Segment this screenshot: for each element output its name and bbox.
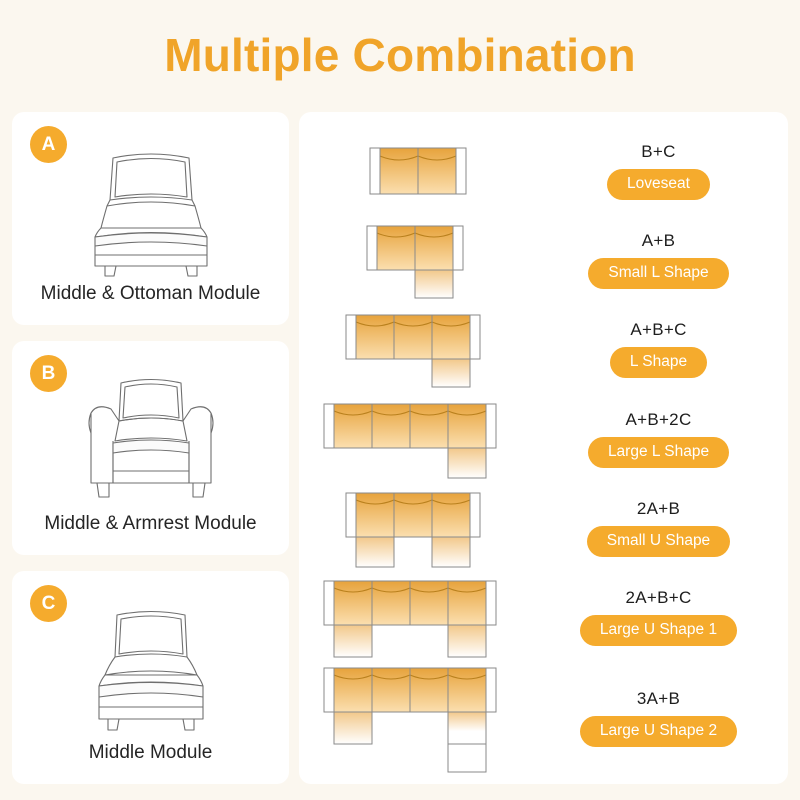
combination-name-pill[interactable]: Small U Shape bbox=[587, 526, 730, 557]
combination-info: 3A+B Large U Shape 2 bbox=[533, 689, 784, 747]
combination-code: 2A+B bbox=[637, 499, 680, 519]
combination-name-pill[interactable]: Large U Shape 2 bbox=[580, 716, 737, 747]
middle-module-illustration bbox=[51, 587, 251, 742]
combination-diagram-large-l-shape bbox=[303, 398, 533, 480]
combination-info: 2A+B+C Large U Shape 1 bbox=[533, 588, 784, 646]
ottoman-module-illustration bbox=[51, 128, 251, 283]
combination-row[interactable]: A+B+2C Large L Shape bbox=[299, 394, 788, 483]
combination-code: A+B+C bbox=[630, 320, 686, 340]
combination-diagram-loveseat bbox=[303, 142, 533, 200]
combination-name-pill[interactable]: Large L Shape bbox=[588, 437, 729, 468]
combination-info: A+B+2C Large L Shape bbox=[533, 410, 784, 468]
combination-diagram-large-u-shape-2 bbox=[303, 662, 533, 774]
module-label-b: Middle & Armrest Module bbox=[44, 513, 256, 535]
combination-code: B+C bbox=[641, 142, 675, 162]
combination-name-pill[interactable]: Large U Shape 1 bbox=[580, 615, 737, 646]
module-label-a: Middle & Ottoman Module bbox=[41, 283, 261, 305]
module-label-c: Middle Module bbox=[89, 742, 213, 764]
combination-code: 3A+B bbox=[637, 689, 680, 709]
infographic-page: Multiple Combination A bbox=[0, 0, 800, 800]
combination-code: 2A+B+C bbox=[625, 588, 691, 608]
combination-diagram-l-shape bbox=[303, 309, 533, 389]
combination-row[interactable]: 3A+B Large U Shape 2 bbox=[299, 662, 788, 774]
page-title: Multiple Combination bbox=[0, 28, 800, 82]
combination-diagram-small-l-shape bbox=[303, 220, 533, 300]
combination-info: 2A+B Small U Shape bbox=[533, 499, 784, 557]
combination-row[interactable]: 2A+B Small U Shape bbox=[299, 483, 788, 572]
module-card-c[interactable]: C Middle Module bbox=[12, 571, 289, 784]
combination-code: A+B bbox=[642, 231, 676, 251]
combination-name-pill[interactable]: L Shape bbox=[610, 347, 707, 378]
combination-row[interactable]: 2A+B+C Large U Shape 1 bbox=[299, 573, 788, 662]
module-badge-c: C bbox=[30, 585, 67, 622]
module-card-b[interactable]: B bbox=[12, 341, 289, 554]
combination-name-pill[interactable]: Small L Shape bbox=[588, 258, 728, 289]
combination-code: A+B+2C bbox=[625, 410, 691, 430]
combination-row[interactable]: B+C Loveseat bbox=[299, 126, 788, 215]
combination-row[interactable]: A+B Small L Shape bbox=[299, 215, 788, 304]
combination-name-pill[interactable]: Loveseat bbox=[607, 169, 710, 200]
combination-info: A+B Small L Shape bbox=[533, 231, 784, 289]
combination-diagram-large-u-shape-1 bbox=[303, 575, 533, 659]
combination-row[interactable]: A+B+C L Shape bbox=[299, 305, 788, 394]
module-card-list: A Middle & bbox=[12, 112, 289, 784]
combination-list-panel: B+C Loveseat bbox=[299, 112, 788, 784]
armrest-module-illustration bbox=[51, 357, 251, 512]
combination-info: B+C Loveseat bbox=[533, 142, 784, 200]
combination-info: A+B+C L Shape bbox=[533, 320, 784, 378]
combination-diagram-small-u-shape bbox=[303, 487, 533, 569]
module-badge-a: A bbox=[30, 126, 67, 163]
module-card-a[interactable]: A Middle & bbox=[12, 112, 289, 325]
